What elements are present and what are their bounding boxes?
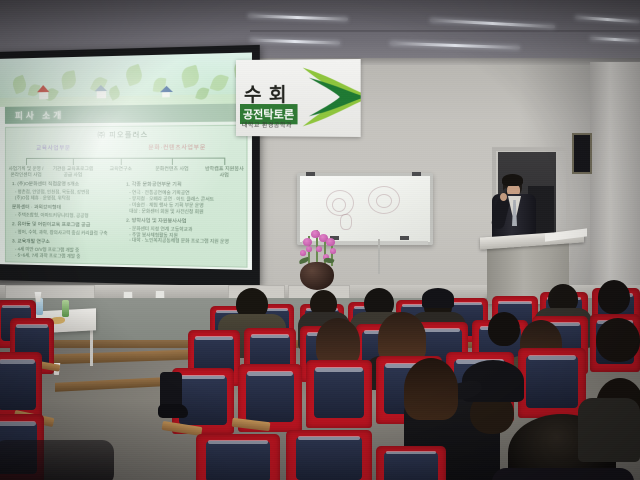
slide-title-bar: 피사 소개 [5,103,245,123]
house-icon [39,91,48,99]
seat-row-c[interactable] [518,348,586,418]
seat-row-d[interactable] [376,446,446,480]
slide-title: 피사 소개 [5,109,64,122]
seat-row-c[interactable] [306,360,372,428]
ceiling-light [430,19,555,29]
org-box: 사업기획 및 운영 / 온라인센터 사업 [6,166,46,177]
org-box: 기관용 교육프로그램 공급 사업 [52,166,93,177]
bullet-heading: 1. (주)O문화센터 직접운영 5개소 [12,182,120,189]
slide-subtitle: ㈜ 피오플러스 [6,129,246,141]
bullet-item: - 5~6세, 7세 과학 프로그램 개발 중 [15,252,120,260]
ceiling-light [250,38,340,44]
audience-head [598,280,630,314]
lecture-hall-photo: 피사 소개 ㈜ 피오플러스 교육사업부문 문화·컨텐츠사업부문 사업기획 및 운… [0,0,640,480]
house-roof-icon [37,85,49,92]
slide-body: ㈜ 피오플러스 교육사업부문 문화·컨텐츠사업부문 사업기획 및 운영 / 온라… [5,125,248,268]
org-box: 교육연구소 [100,166,142,172]
seat-empty[interactable] [0,352,42,420]
banner-title: 수 회 [244,80,288,107]
house-icon [97,90,106,98]
banner-affiliation: 대학교 환경공학과 [242,120,292,129]
projection-screen: 피사 소개 ㈜ 피오플러스 교육사업부문 문화·컨텐츠사업부문 사업기획 및 운… [0,45,260,287]
slide-column-right: 1. 각종 문화공연부문 기획 - 연극 · 전통공연예술 기획공연 - 뮤지컬… [126,182,240,262]
org-box: 방학캠프 지원봉사 사업 [202,166,246,178]
water-bottle [62,300,69,317]
audience-head-long-hair [316,318,360,366]
seat-row-d[interactable] [196,434,280,480]
ceiling-light [590,37,640,43]
slide-header-image [0,52,252,106]
boot-icon [158,404,188,418]
slide-columns: 1. (주)O문화센터 직접운영 5개소 - 평촌점, 안양점, 인천점, 목동… [12,182,240,263]
wall-speaker [572,133,592,174]
ceiling-light [390,42,520,50]
audience-head [488,312,520,346]
audience-head-long-hair [404,358,458,420]
bullet-heading: 1. 각종 문화공연부문 기획 [126,182,240,189]
wall-banner: 수 회 공전탁토론 대학교 환경공학과 [236,59,361,137]
bullet-item: - 대학 · 노인복지공동체형 문화 프로그램 지원 운영 [129,238,240,246]
speaker-hand [500,193,507,201]
corner-pillar [590,62,640,312]
house-roof-icon [95,85,108,91]
org-header-right: 문화·컨텐츠사업부문 [148,143,206,152]
audience-head [596,318,640,362]
bullet-heading: 문화센터 · 과외강의형태 [12,205,120,212]
audience-body [578,398,640,462]
speaker-hair [502,174,523,186]
whiteboard-stand [378,239,380,274]
slide-surface: 피사 소개 ㈜ 피오플러스 교육사업부문 문화·컨텐츠사업부문 사업기획 및 운… [0,52,252,269]
ceiling-light [248,14,348,20]
seat-row-d[interactable] [286,430,372,480]
org-header-left: 교육사업부문 [36,144,71,152]
org-chart: 교육사업부문 문화·컨텐츠사업부문 사업기획 및 운영 / 온라인센터 사업 기… [14,143,238,179]
green-chevron-logo-icon [299,65,361,129]
cap-icon [422,288,454,308]
house-roof-icon [160,86,173,92]
slide-column-left: 1. (주)O문화센터 직접운영 5개소 - 평촌점, 안양점, 인천점, 목동… [12,182,120,260]
plant-pot [300,262,334,290]
org-box: 문화컨텐츠 사업 [150,166,193,172]
audience-body [492,468,634,480]
ceiling-light [575,16,640,24]
foreground-shadow [0,440,114,480]
